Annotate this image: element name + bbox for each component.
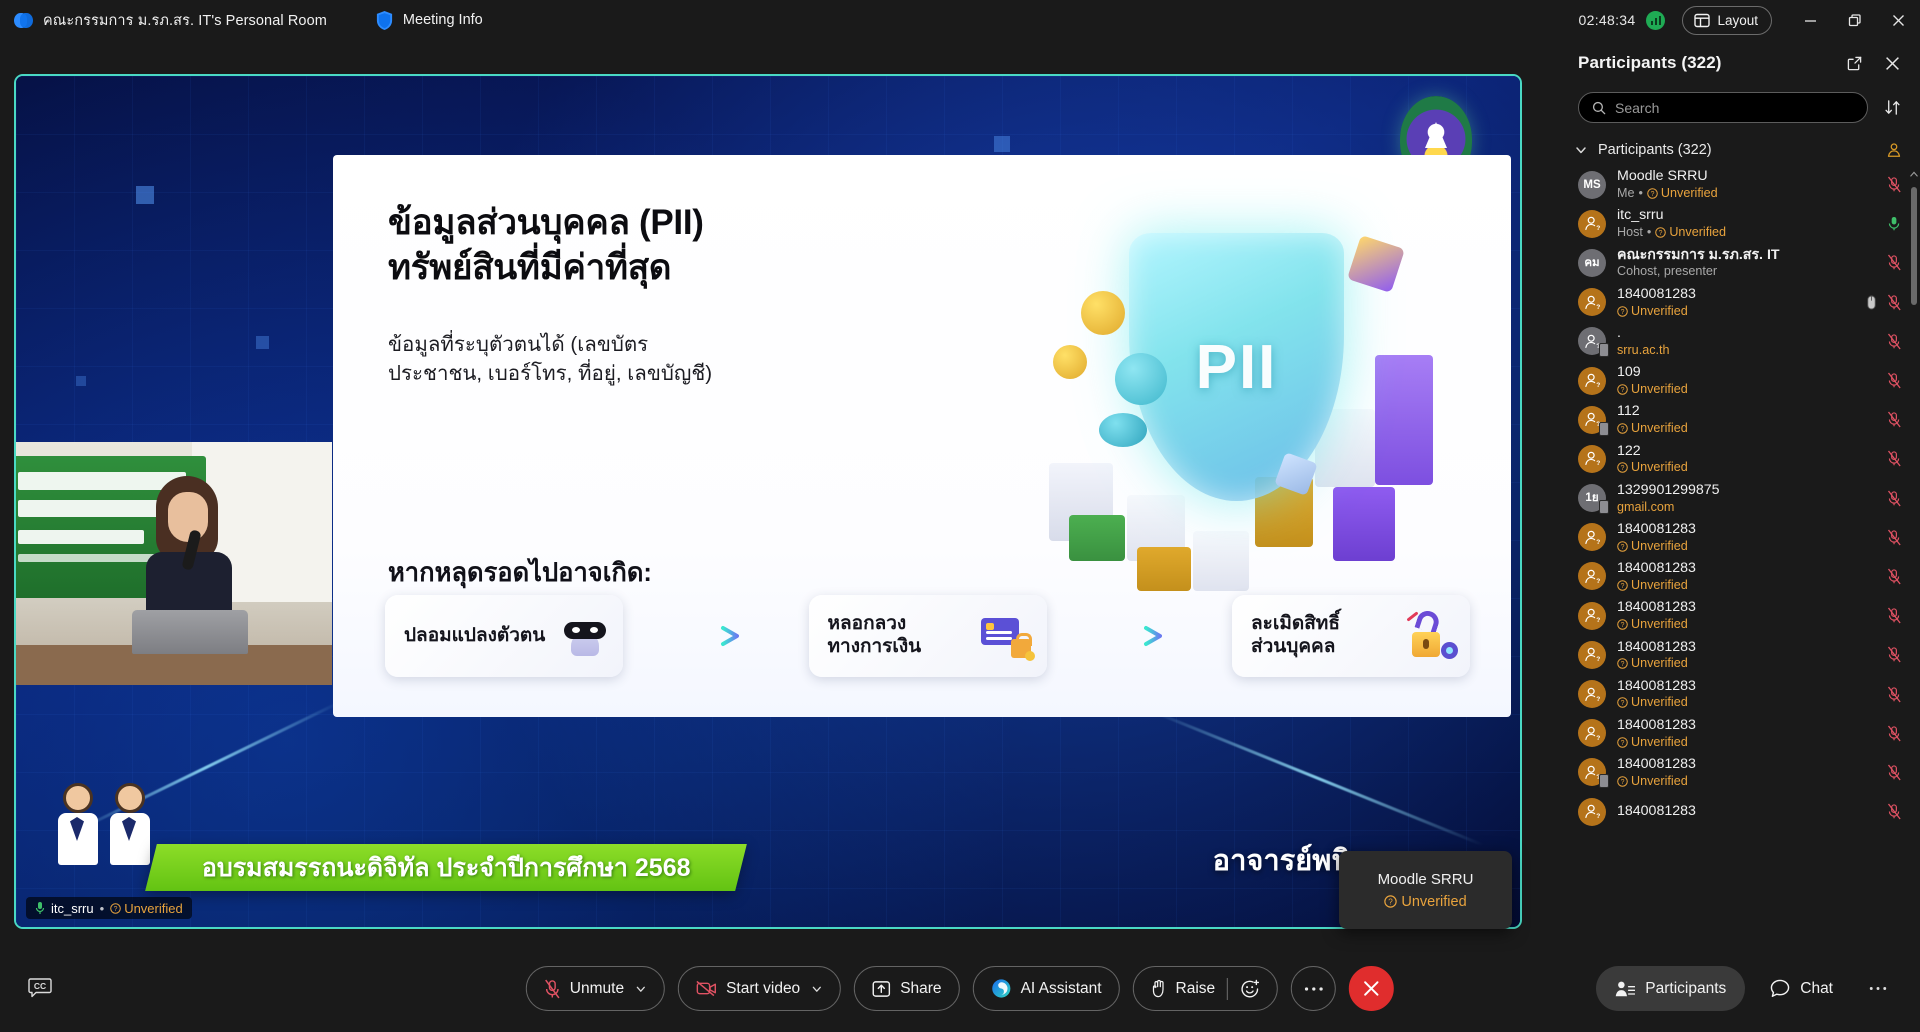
participant-row[interactable]: ?itc_srruHost•?Unverified [1560,204,1920,243]
participants-scrollbar[interactable] [1910,165,1918,988]
slide-title: ข้อมูลส่วนบุคคล (PII) ทรัพย์สินที่มีค่าท… [388,201,848,291]
participant-row[interactable]: ?1840081283?Unverified [1560,283,1920,322]
layout-button[interactable]: Layout [1682,6,1772,35]
mic-on-icon [1887,215,1902,232]
outcome-card-label-line1: หลอกลวง [828,613,907,634]
participants-panel-title: Participants (322) [1578,53,1722,73]
share-label: Share [900,980,941,998]
avatar: ? [1578,210,1606,238]
participant-subtitle: Cohost, presenter [1617,264,1876,279]
close-icon[interactable] [1876,0,1920,40]
participants-group-label: Participants (322) [1598,142,1712,158]
mic-muted-icon [1887,294,1902,311]
participant-info: 1329901299875gmail.com [1617,482,1876,515]
participant-row[interactable]: คมคณะกรรมการ ม.รภ.สร. ITCohost, presente… [1560,243,1920,282]
participant-row[interactable]: ?1840081283?Unverified [1560,557,1920,596]
participant-row-actions [1887,254,1902,271]
person-unknown-icon: ? [1584,529,1601,546]
more-options-button[interactable] [1291,966,1336,1011]
participant-name: 1840081283 [1617,803,1876,820]
participants-panel: Participants (322) [1560,40,1920,988]
event-ribbon: อบรมสมรรถนะดิจิทัล ประจำปีการศึกษา 2568 [145,844,747,891]
participant-tooltip: Moodle SRRU ? Unverified [1339,851,1512,929]
participant-row[interactable]: ?1840081283?Unverified [1560,518,1920,557]
participant-status: ?Unverified [1655,225,1726,240]
slide-title-line1: ข้อมูลส่วนบุคคล (PII) [388,201,848,246]
outcome-card-label: หลอกลวง ทางการเงิน [828,613,922,659]
avatar: คม [1578,249,1606,277]
participant-status: ?Unverified [1617,735,1688,750]
participant-name: 1840081283 [1617,560,1876,577]
presenter-video-inset [16,442,332,685]
participant-status: ?Unverified [1647,186,1718,201]
svg-text:?: ? [1596,656,1600,663]
person-unknown-icon: ? [1584,764,1601,781]
layout-grid-icon [1694,13,1710,28]
participant-row-actions [1887,529,1902,546]
mic-on-icon [35,901,45,915]
participants-toggle-button[interactable]: Participants [1596,966,1745,1011]
share-screen-icon [872,980,891,998]
person-unknown-icon: ? [1584,686,1601,703]
avatar: 1ย [1578,484,1606,512]
participant-info: 1840081283?Unverified [1617,678,1876,711]
avatar: ? [1578,719,1606,747]
unverified-icon: ? [1617,423,1628,434]
participant-status: ?Unverified [1617,421,1688,436]
avatar: ? [1578,445,1606,473]
mic-muted-icon [1887,803,1902,820]
unverified-icon: ? [1617,658,1628,669]
participant-subtitle: ?Unverified [1617,382,1876,397]
participant-subtitle: Host•?Unverified [1617,225,1876,240]
participant-subtitle: ?Unverified [1617,656,1876,671]
toolbar-center-controls: Unmute Start video [526,966,1394,1011]
participant-status: ?Unverified [1617,617,1688,632]
unverified-icon: ? [1647,188,1658,199]
participant-row[interactable]: ?1840081283?Unverified [1560,674,1920,713]
svg-text:?: ? [1596,578,1600,585]
end-call-icon [1362,979,1381,998]
mic-muted-icon [1887,646,1902,663]
search-input[interactable] [1615,100,1854,116]
participant-info: 1840081283?Unverified [1617,717,1876,750]
participant-status: ?Unverified [1617,460,1688,475]
mic-muted-icon [1887,411,1902,428]
svg-text:?: ? [1621,544,1625,551]
close-panel-icon[interactable] [1880,51,1904,75]
participant-subtitle: ?Unverified [1617,304,1854,319]
person-unknown-icon: ? [1584,607,1601,624]
tooltip-name: Moodle SRRU [1378,871,1474,888]
avatar: ? [1578,602,1606,630]
start-video-label: Start video [726,980,800,998]
participant-status: ?Unverified [1617,382,1688,397]
participant-subtitle: ?Unverified [1617,735,1876,750]
participant-row-actions [1887,646,1902,663]
participant-domain: gmail.com [1617,500,1674,515]
participant-name: 1840081283 [1617,599,1876,616]
person-unknown-icon: ? [1584,450,1601,467]
svg-text:?: ? [1621,661,1625,668]
participant-status: ?Unverified [1617,578,1688,593]
mic-muted-icon [1887,764,1902,781]
sort-icon[interactable] [1880,96,1904,120]
chat-bubble-icon [1770,979,1790,998]
participant-status: ?Unverified [1617,695,1688,710]
participant-info: 122?Unverified [1617,443,1876,476]
avatar: ? [1578,758,1606,786]
chat-button[interactable]: Chat [1751,966,1852,1011]
svg-text:CC: CC [34,981,46,991]
raised-hand-icon [1151,979,1167,998]
participant-row[interactable]: ?.srru.ac.th [1560,322,1920,361]
unverified-icon: ? [1617,619,1628,630]
search-box[interactable] [1578,92,1868,123]
mic-muted-icon [1887,450,1902,467]
unverified-icon: ? [1655,227,1666,238]
participant-info: Moodle SRRUMe•?Unverified [1617,168,1876,201]
participant-row-actions [1865,294,1902,311]
mic-muted-icon [1887,568,1902,585]
person-unknown-icon: ? [1584,294,1601,311]
phone-device-icon [1599,500,1609,514]
participant-row-actions [1887,803,1902,820]
participants-search-row [1560,86,1920,135]
svg-text:?: ? [1621,622,1625,629]
participants-panel-actions [1842,51,1904,75]
svg-text:?: ? [1621,583,1625,590]
svg-text:?: ? [1596,304,1600,311]
separator-dot: • [100,901,105,916]
participant-row-actions [1887,686,1902,703]
tooltip-status: ? Unverified [1384,894,1466,910]
chat-label: Chat [1800,980,1833,998]
divider [1227,978,1228,1000]
unverified-icon: ? [1617,384,1628,395]
svg-text:?: ? [1621,740,1625,747]
participant-row[interactable]: ?1840081283 [1560,792,1920,831]
chevron-down-icon[interactable] [635,983,647,995]
phone-device-icon [1599,343,1609,357]
participant-row-actions [1887,725,1902,742]
zoom-logo-icon [14,11,33,30]
participant-role: Cohost, presenter [1617,264,1717,279]
participant-row[interactable]: ?112?Unverified [1560,400,1920,439]
participant-row[interactable]: ?1840081283?Unverified [1560,714,1920,753]
participant-name: 1840081283 [1617,286,1854,303]
participant-info: 109?Unverified [1617,364,1876,397]
presentation-slide: ข้อมูลส่วนบุคคล (PII) ทรัพย์สินที่มีค่าท… [333,155,1511,717]
scrollbar-thumb[interactable] [1911,187,1917,305]
person-unknown-icon: ? [1584,803,1601,820]
person-unknown-icon: ? [1584,725,1601,742]
participant-subtitle: ?Unverified [1617,460,1876,475]
video-name-label-status-text: Unverified [124,901,183,916]
title-bar-left: คณะกรรมการ ม.รภ.สร. IT's Personal Room M… [0,9,483,32]
avatar: ? [1578,798,1606,826]
ai-assistant-label: AI Assistant [1021,980,1102,998]
participant-role: Me [1617,186,1635,201]
phone-device-icon [1599,422,1609,436]
participant-subtitle: gmail.com [1617,500,1876,515]
person-unknown-icon: ? [1584,568,1601,585]
avatar: MS [1578,171,1606,199]
svg-text:?: ? [1596,382,1600,389]
emoji-reaction-icon[interactable] [1240,979,1260,999]
outcome-cards-row: ปลอมแปลงตัวตน หลอกลวง ทางการเงิน [385,595,1470,677]
tooltip-status-text: Unverified [1401,894,1466,910]
separator-dot: • [1639,186,1643,201]
slide-title-line2: ทรัพย์สินที่มีค่าที่สุด [388,246,848,291]
mic-muted-icon [1887,176,1902,193]
participants-list[interactable]: MSMoodle SRRUMe•?Unverified?itc_srruHost… [1560,165,1920,988]
participant-row[interactable]: ?1840081283?Unverified [1560,635,1920,674]
svg-text:?: ? [1596,735,1600,742]
meeting-toolbar: CC Unmute [0,944,1920,1032]
pii-shield-label: PII [1196,332,1278,403]
participant-subtitle: Me•?Unverified [1617,186,1876,201]
meeting-title: คณะกรรมการ ม.รภ.สร. IT's Personal Room [43,9,327,32]
participant-info: 112?Unverified [1617,403,1876,436]
participant-row-actions [1887,764,1902,781]
unverified-icon: ? [1617,541,1628,552]
svg-text:?: ? [1659,230,1663,237]
participant-subtitle: ?Unverified [1617,695,1876,710]
right-more-options-button[interactable] [1858,969,1898,1009]
arrow-icon [623,625,809,647]
outcome-card-label: ละเมิดสิทธิ์ ส่วนบุคคล [1251,613,1340,659]
unverified-icon: ? [1617,697,1628,708]
participant-subtitle: ?Unverified [1617,617,1876,632]
svg-text:?: ? [1621,426,1625,433]
participant-info: 1840081283?Unverified [1617,560,1876,593]
participant-status: ?Unverified [1617,656,1688,671]
raise-label: Raise [1176,980,1216,998]
participant-row[interactable]: ?1840081283?Unverified [1560,753,1920,792]
participant-name: . [1617,325,1876,342]
unverified-icon: ? [1384,895,1397,908]
unverified-icon: ? [1617,306,1628,317]
participant-info: 1840081283?Unverified [1617,521,1876,554]
participant-row-actions [1887,333,1902,350]
shield-icon [375,10,394,31]
participant-row[interactable]: ?109?Unverified [1560,361,1920,400]
credit-card-lock-icon [981,614,1033,658]
participant-row-actions [1887,411,1902,428]
reactions-group[interactable]: Raise [1133,966,1279,1011]
zoom-meeting-window: คณะกรรมการ ม.รภ.สร. IT's Personal Room M… [0,0,1920,1032]
scroll-up-icon[interactable] [1910,165,1918,183]
toolbar-right-controls: Participants Chat [1596,966,1898,1011]
outcome-card-label: ปลอมแปลงตัวตน [404,625,545,648]
start-video-button[interactable]: Start video [678,966,841,1011]
participant-name: Moodle SRRU [1617,168,1876,185]
person-unknown-icon: ? [1584,215,1601,232]
participant-name: 109 [1617,364,1876,381]
svg-text:?: ? [1596,225,1600,232]
participant-row-actions [1887,215,1902,232]
outcome-card-financial-fraud: หลอกลวง ทางการเงิน [809,595,1047,677]
title-bar-right: 02:48:34 Layout [1579,0,1920,40]
outcome-card-label-line1: ละเมิดสิทธิ์ [1251,613,1340,634]
unverified-icon: ? [1617,580,1628,591]
outcome-card-label-line2: ส่วนบุคคล [1251,636,1335,657]
participant-row[interactable]: ?1840081283?Unverified [1560,596,1920,635]
participant-name: 1840081283 [1617,639,1876,656]
restore-icon[interactable] [1832,0,1876,40]
minimize-icon[interactable] [1788,0,1832,40]
participant-row-actions [1887,568,1902,585]
event-ribbon-text: อบรมสมรรถนะดิจิทัล ประจำปีการศึกษา 2568 [202,848,691,888]
meeting-info-button[interactable]: Meeting Info [375,10,483,31]
raised-hand-cursor-icon [1865,295,1878,310]
svg-text:?: ? [1621,465,1625,472]
arrow-icon [1047,625,1233,647]
svg-text:?: ? [1596,617,1600,624]
participant-row[interactable]: 1ย1329901299875gmail.com [1560,479,1920,518]
participant-name: 1840081283 [1617,717,1876,734]
mask-icon [561,614,609,658]
participant-status: ?Unverified [1617,304,1688,319]
avatar: ? [1578,288,1606,316]
avatar: ? [1578,367,1606,395]
svg-text:?: ? [1621,309,1625,316]
video-off-icon [696,980,717,997]
participant-info: 1840081283?Unverified [1617,286,1854,319]
participant-row-actions [1887,450,1902,467]
participant-subtitle: ?Unverified [1617,774,1876,789]
video-name-label-status: ? Unverified [110,901,183,916]
mic-muted-icon [1887,725,1902,742]
outcome-card-privacy-violation: ละเมิดสิทธิ์ ส่วนบุคคล [1232,595,1470,677]
participant-info: 1840081283 [1617,803,1876,820]
more-options-icon [1304,986,1324,992]
chevron-down-icon[interactable] [811,983,823,995]
leave-meeting-button[interactable] [1349,966,1394,1011]
participant-name: 1840081283 [1617,678,1876,695]
person-unknown-icon: ? [1584,333,1601,350]
unmute-button[interactable]: Unmute [526,966,665,1011]
avatar: ? [1578,680,1606,708]
participant-row[interactable]: ?122?Unverified [1560,439,1920,478]
unverified-icon: ? [1617,737,1628,748]
participant-status: ?Unverified [1617,539,1688,554]
search-icon [1592,101,1606,115]
svg-text:?: ? [1596,539,1600,546]
participant-name: 112 [1617,403,1876,420]
participant-name: 1329901299875 [1617,482,1876,499]
mic-muted-icon [1887,490,1902,507]
svg-text:?: ? [1621,700,1625,707]
person-unknown-icon: ? [1584,372,1601,389]
participant-row-actions [1887,176,1902,193]
participant-info: 1840081283?Unverified [1617,756,1876,789]
slide-subtitle: ข้อมูลที่ระบุตัวตนได้ (เลขบัตรประชาชน, เ… [388,330,733,388]
participant-subtitle: ?Unverified [1617,539,1876,554]
video-name-label: itc_srru • ? Unverified [26,897,192,919]
participant-info: .srru.ac.th [1617,325,1876,358]
mic-muted-icon [1887,333,1902,350]
share-button[interactable]: Share [854,966,959,1011]
participant-row-actions [1887,490,1902,507]
participant-domain: srru.ac.th [1617,343,1670,358]
svg-text:?: ? [1596,461,1600,468]
mic-muted-icon [1887,254,1902,271]
mic-muted-icon [1887,686,1902,703]
participant-info: itc_srruHost•?Unverified [1617,207,1876,240]
slide-outcome-heading: หากหลุดรอดไปอาจเกิด: [388,553,652,593]
participant-role: Host [1617,225,1643,240]
avatar: ? [1578,523,1606,551]
mic-muted-icon [1887,372,1902,389]
svg-text:?: ? [1596,696,1600,703]
mic-muted-icon [1887,607,1902,624]
video-name-label-name: itc_srru [51,901,94,916]
ai-companion-icon [991,978,1012,999]
avatar: ? [1578,327,1606,355]
participant-name: itc_srru [1617,207,1876,224]
meeting-info-label: Meeting Info [403,12,483,28]
participants-group-header[interactable]: Participants (322) [1560,135,1920,165]
closed-caption-icon[interactable]: CC [22,970,58,1006]
popout-icon[interactable] [1842,51,1866,75]
ai-assistant-button[interactable]: AI Assistant [973,966,1120,1011]
network-quality-icon[interactable] [1646,11,1665,30]
participant-row[interactable]: MSMoodle SRRUMe•?Unverified [1560,165,1920,204]
participant-info: คณะกรรมการ ม.รภ.สร. ITCohost, presenter [1617,247,1876,280]
unverified-icon: ? [110,903,121,914]
unmute-label: Unmute [570,980,624,998]
participant-subtitle: ?Unverified [1617,421,1876,436]
meeting-timer: 02:48:34 [1579,12,1636,28]
window-controls [1788,0,1920,40]
participant-info: 1840081283?Unverified [1617,639,1876,672]
mic-muted-icon [544,979,561,999]
svg-text:?: ? [1651,191,1655,198]
layout-label: Layout [1717,13,1758,28]
participant-name: คณะกรรมการ ม.รภ.สร. IT [1617,247,1876,264]
person-unknown-icon: ? [1584,411,1601,428]
avatar: ? [1578,641,1606,669]
participants-panel-header: Participants (322) [1560,40,1920,86]
participant-name: 1840081283 [1617,756,1876,773]
svg-text:?: ? [114,906,118,913]
svg-text:?: ? [1596,813,1600,820]
separator-dot: • [1647,225,1651,240]
participant-name: 122 [1617,443,1876,460]
participant-name: 1840081283 [1617,521,1876,538]
avatar: ? [1578,562,1606,590]
unverified-icon: ? [1617,776,1628,787]
participants-toggle-label: Participants [1645,980,1726,998]
participant-status: ?Unverified [1617,774,1688,789]
unverified-icon: ? [1617,462,1628,473]
outcome-card-label-line2: ทางการเงิน [828,636,922,657]
person-unknown-icon: ? [1584,646,1601,663]
phone-device-icon [1599,774,1609,788]
svg-text:?: ? [1621,779,1625,786]
participant-row-actions [1887,607,1902,624]
participants-icon [1615,980,1635,998]
svg-text:?: ? [1621,387,1625,394]
more-options-icon [1869,986,1887,991]
shared-screen-video[interactable]: ข้อมูลส่วนบุคคล (PII) ทรัพย์สินที่มีค่าท… [14,74,1522,929]
outcome-card-identity-fraud: ปลอมแปลงตัวตน [385,595,623,677]
unlocked-padlock-eye-icon [1404,613,1456,659]
participant-info: 1840081283?Unverified [1617,599,1876,632]
avatar: ? [1578,406,1606,434]
